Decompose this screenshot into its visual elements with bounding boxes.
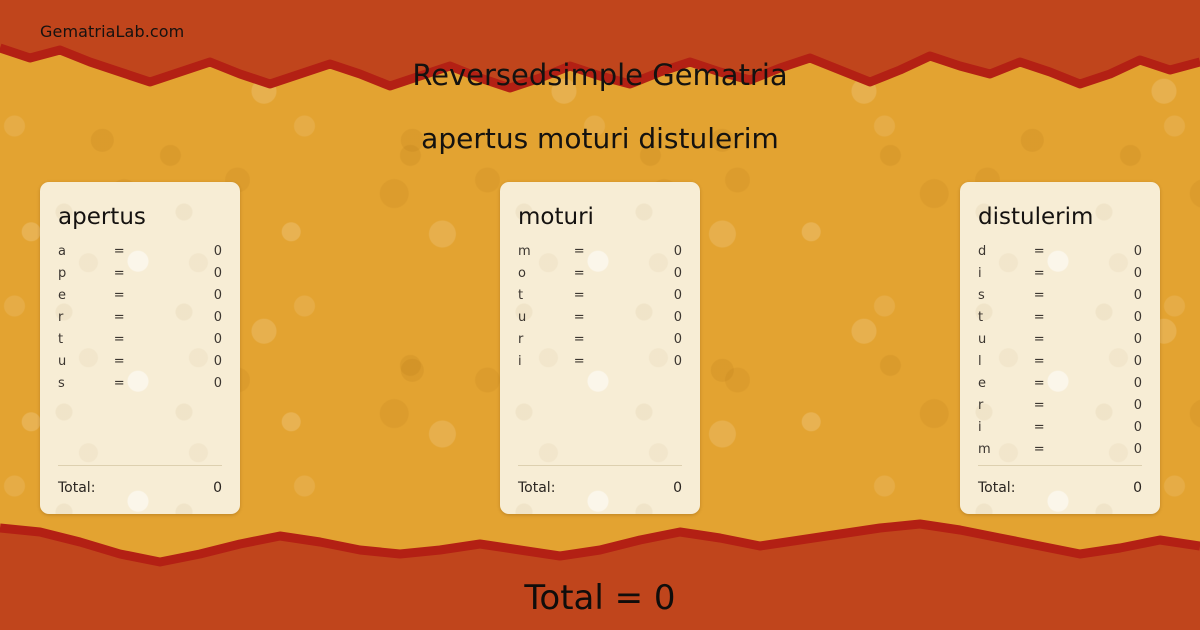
letter-label: t (58, 332, 114, 347)
letter-value-row: a = 0 (58, 244, 222, 266)
letter-value-row: o = 0 (518, 266, 682, 288)
letter-label: r (978, 398, 1034, 413)
equals-sign: = (574, 266, 626, 281)
letter-value: 0 (166, 244, 222, 259)
equals-sign: = (114, 288, 166, 303)
equals-sign: = (114, 310, 166, 325)
equals-sign: = (114, 244, 166, 259)
letter-value-row: t = 0 (58, 332, 222, 354)
word-total-value: 0 (213, 480, 222, 496)
footer-divider (518, 465, 682, 466)
letter-value: 0 (166, 376, 222, 391)
equals-sign: = (574, 332, 626, 347)
letter-label: e (58, 288, 114, 303)
letter-label: s (978, 288, 1034, 303)
letter-value-row: s = 0 (58, 376, 222, 398)
letter-value-row: d = 0 (978, 244, 1142, 266)
equals-sign: = (114, 266, 166, 281)
footer-divider (58, 465, 222, 466)
letter-value-row: i = 0 (978, 420, 1142, 442)
letter-label: o (518, 266, 574, 281)
letter-value: 0 (1086, 310, 1142, 325)
letter-value: 0 (1086, 354, 1142, 369)
letter-label: t (518, 288, 574, 303)
word-card-group: apertus a = 0 p = 0 e = 0 r (0, 182, 1200, 514)
letter-value-row: l = 0 (978, 354, 1142, 376)
word-total-row: Total: 0 (518, 480, 682, 496)
page-subtitle-phrase: apertus moturi distulerim (0, 122, 1200, 155)
letter-value: 0 (166, 332, 222, 347)
equals-sign: = (114, 354, 166, 369)
word-card-title: distulerim (978, 204, 1142, 230)
word-total-value: 0 (1133, 480, 1142, 496)
equals-sign: = (574, 244, 626, 259)
letter-value: 0 (626, 310, 682, 325)
word-total-label: Total: (58, 480, 95, 496)
word-card: distulerim d = 0 i = 0 s = 0 t (960, 182, 1160, 514)
equals-sign: = (114, 376, 166, 391)
letter-label: u (978, 332, 1034, 347)
letter-value-row: t = 0 (978, 310, 1142, 332)
letter-value: 0 (626, 354, 682, 369)
letter-label: m (518, 244, 574, 259)
letter-value-row: t = 0 (518, 288, 682, 310)
letter-label: d (978, 244, 1034, 259)
letter-label: i (978, 420, 1034, 435)
word-total-row: Total: 0 (978, 480, 1142, 496)
word-card-title: moturi (518, 204, 682, 230)
letter-value: 0 (166, 288, 222, 303)
letter-label: i (518, 354, 574, 369)
equals-sign: = (1034, 376, 1086, 391)
letter-label: r (518, 332, 574, 347)
equals-sign: = (114, 332, 166, 347)
letter-value: 0 (1086, 398, 1142, 413)
page-title: Reversedsimple Gematria (0, 58, 1200, 92)
word-card: moturi m = 0 o = 0 t = 0 u (500, 182, 700, 514)
equals-sign: = (1034, 244, 1086, 259)
letter-value: 0 (166, 310, 222, 325)
word-card: apertus a = 0 p = 0 e = 0 r (40, 182, 240, 514)
bottom-band-edge (0, 524, 1200, 562)
letter-value-list: d = 0 i = 0 s = 0 t = 0 (978, 244, 1142, 464)
letter-value-list: m = 0 o = 0 t = 0 u = 0 (518, 244, 682, 376)
equals-sign: = (574, 354, 626, 369)
footer-divider (978, 465, 1142, 466)
letter-value-row: i = 0 (978, 266, 1142, 288)
letter-value: 0 (1086, 288, 1142, 303)
letter-value: 0 (1086, 244, 1142, 259)
letter-value-row: e = 0 (978, 376, 1142, 398)
letter-value: 0 (1086, 420, 1142, 435)
letter-value: 0 (626, 266, 682, 281)
letter-value-row: u = 0 (978, 332, 1142, 354)
letter-label: m (978, 442, 1034, 457)
word-total-row: Total: 0 (58, 480, 222, 496)
letter-label: e (978, 376, 1034, 391)
word-card-title: apertus (58, 204, 222, 230)
letter-value: 0 (1086, 442, 1142, 457)
letter-value-row: r = 0 (978, 398, 1142, 420)
equals-sign: = (1034, 442, 1086, 457)
word-card-footer: Total: 0 (518, 465, 682, 496)
letter-label: s (58, 376, 114, 391)
grand-total-label: Total = 0 (0, 578, 1200, 618)
letter-value: 0 (166, 354, 222, 369)
equals-sign: = (1034, 354, 1086, 369)
letter-value-row: p = 0 (58, 266, 222, 288)
letter-value-row: s = 0 (978, 288, 1142, 310)
word-total-label: Total: (978, 480, 1015, 496)
letter-value: 0 (166, 266, 222, 281)
letter-value: 0 (1086, 266, 1142, 281)
letter-label: i (978, 266, 1034, 281)
letter-label: p (58, 266, 114, 281)
letter-label: u (518, 310, 574, 325)
letter-value: 0 (626, 332, 682, 347)
equals-sign: = (574, 288, 626, 303)
equals-sign: = (1034, 332, 1086, 347)
word-card-footer: Total: 0 (978, 465, 1142, 496)
site-logo-text[interactable]: GematriaLab.com (40, 22, 184, 41)
letter-value: 0 (626, 288, 682, 303)
word-card-footer: Total: 0 (58, 465, 222, 496)
letter-value: 0 (626, 244, 682, 259)
word-total-value: 0 (673, 480, 682, 496)
equals-sign: = (1034, 398, 1086, 413)
letter-value-list: a = 0 p = 0 e = 0 r = 0 (58, 244, 222, 398)
letter-value-row: u = 0 (58, 354, 222, 376)
letter-value-row: u = 0 (518, 310, 682, 332)
equals-sign: = (574, 310, 626, 325)
letter-value-row: r = 0 (518, 332, 682, 354)
letter-label: u (58, 354, 114, 369)
equals-sign: = (1034, 266, 1086, 281)
equals-sign: = (1034, 420, 1086, 435)
letter-value-row: e = 0 (58, 288, 222, 310)
letter-label: t (978, 310, 1034, 325)
letter-value: 0 (1086, 332, 1142, 347)
letter-value-row: m = 0 (518, 244, 682, 266)
gematria-result-canvas: GematriaLab.com Reversedsimple Gematria … (0, 0, 1200, 630)
letter-value-row: r = 0 (58, 310, 222, 332)
letter-value-row: m = 0 (978, 442, 1142, 464)
letter-value: 0 (1086, 376, 1142, 391)
letter-label: r (58, 310, 114, 325)
letter-value-row: i = 0 (518, 354, 682, 376)
word-total-label: Total: (518, 480, 555, 496)
equals-sign: = (1034, 310, 1086, 325)
equals-sign: = (1034, 288, 1086, 303)
letter-label: l (978, 354, 1034, 369)
letter-label: a (58, 244, 114, 259)
